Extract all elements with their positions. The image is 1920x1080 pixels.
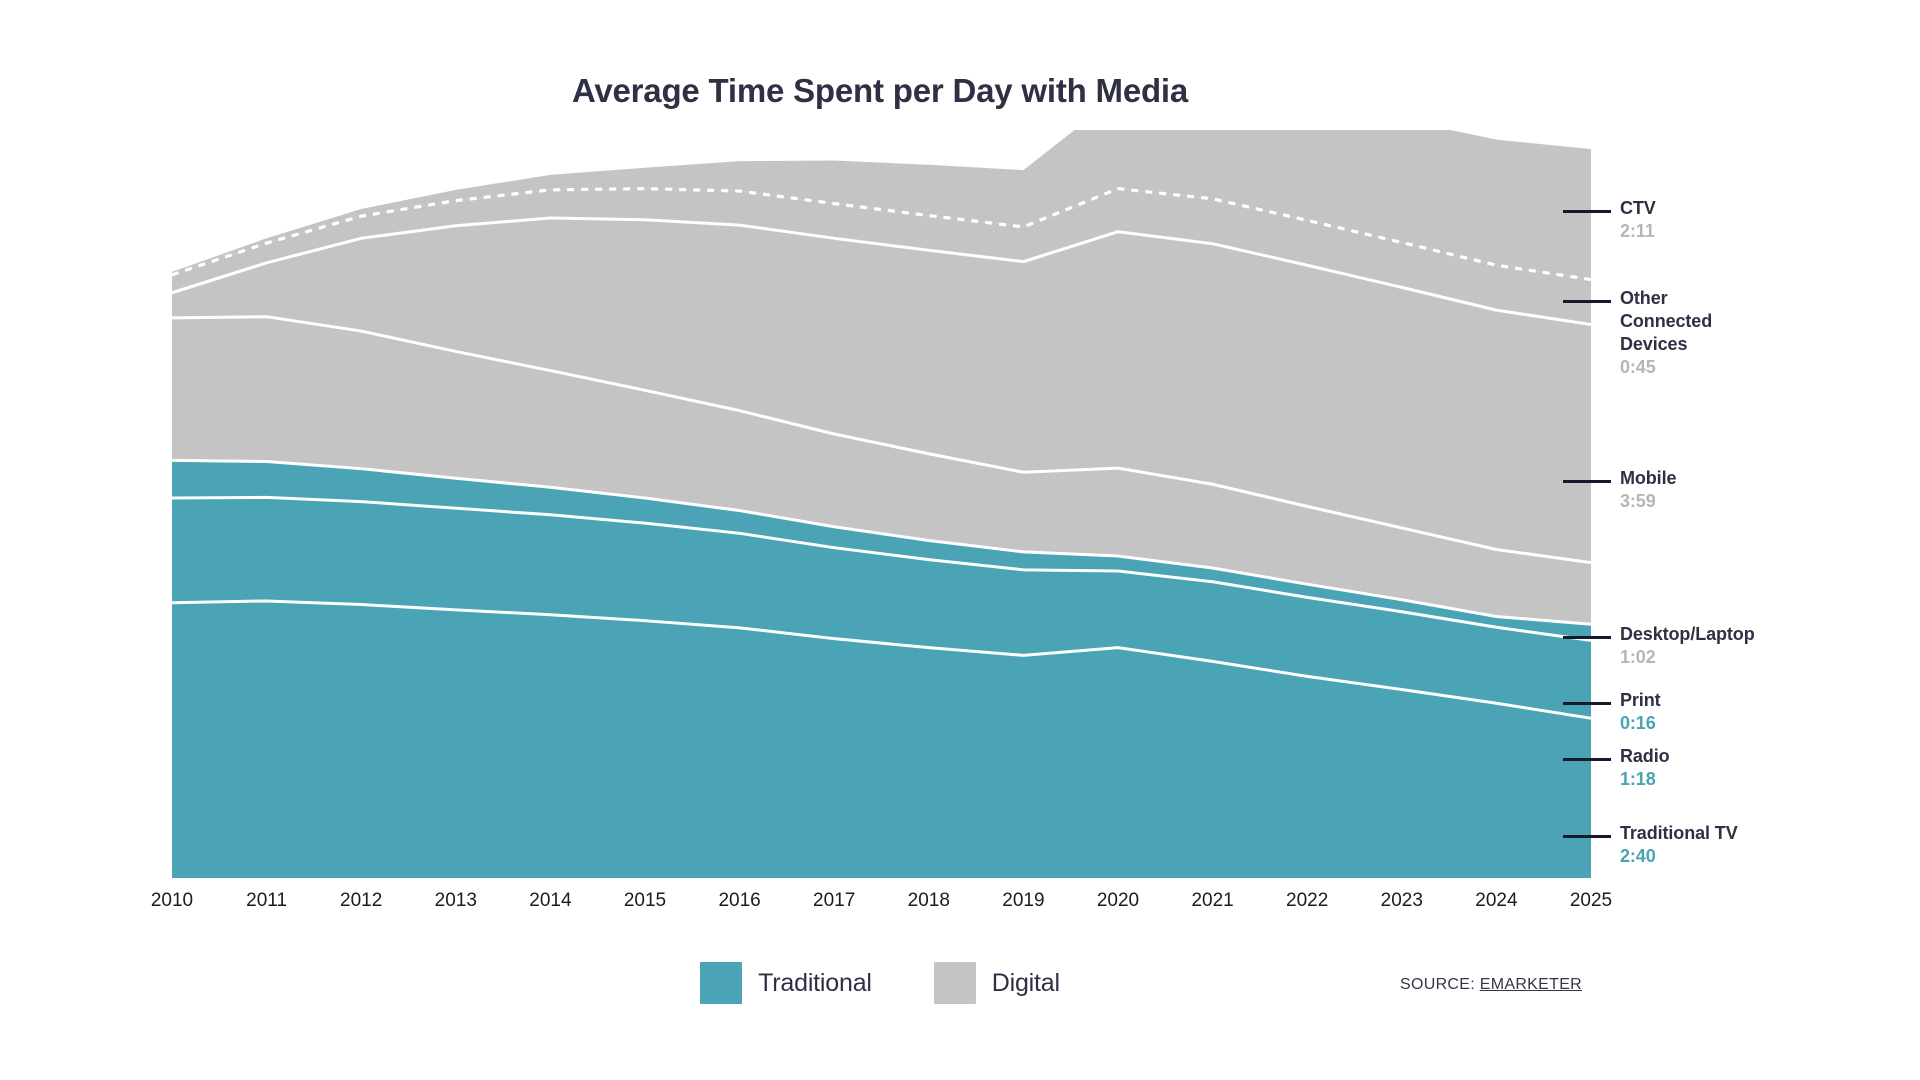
annotation-label-traditional-tv: Traditional TV: [1620, 822, 1738, 845]
leader-line-ctv: [1563, 210, 1611, 213]
x-axis-tick-2023: 2023: [1381, 890, 1423, 912]
annotation-desktop-laptop: Desktop/Laptop1:02: [1620, 623, 1755, 668]
page-title: Average Time Spent per Day with Media: [0, 72, 1760, 110]
stacked-area-plot: [172, 130, 1591, 878]
annotation-print: Print0:16: [1620, 689, 1661, 734]
annotation-value-other-connected-devices: 0:45: [1620, 356, 1750, 378]
color-swatch-icon-traditional: [700, 962, 742, 1004]
leader-line-print: [1563, 702, 1611, 705]
source-prefix: SOURCE:: [1400, 976, 1475, 993]
x-axis-tick-2022: 2022: [1286, 890, 1328, 912]
x-axis-tick-2018: 2018: [908, 890, 950, 912]
x-axis-tick-2016: 2016: [718, 890, 760, 912]
x-axis-tick-2024: 2024: [1475, 890, 1517, 912]
legend-label-traditional: Traditional: [758, 969, 872, 998]
legend-item-digital[interactable]: Digital: [934, 962, 1060, 1004]
leader-line-mobile: [1563, 480, 1611, 483]
x-axis-tick-2012: 2012: [340, 890, 382, 912]
source-link[interactable]: EMARKETER: [1480, 976, 1582, 993]
legend-label-digital: Digital: [992, 969, 1060, 998]
annotation-value-traditional-tv: 2:40: [1620, 845, 1738, 867]
annotation-label-radio: Radio: [1620, 745, 1670, 768]
x-axis-tick-2025: 2025: [1570, 890, 1612, 912]
source-note: SOURCE: EMARKETER: [1400, 976, 1582, 994]
annotation-label-ctv: CTV: [1620, 197, 1656, 220]
legend-item-traditional[interactable]: Traditional: [700, 962, 872, 1004]
annotation-traditional-tv: Traditional TV2:40: [1620, 822, 1738, 867]
annotation-value-mobile: 3:59: [1620, 490, 1676, 512]
annotation-other-connected-devices: Other Connected Devices0:45: [1620, 287, 1750, 378]
annotation-value-print: 0:16: [1620, 712, 1661, 734]
leader-line-desktop-laptop: [1563, 636, 1611, 639]
annotation-value-ctv: 2:11: [1620, 220, 1656, 242]
plot-svg: [172, 130, 1591, 878]
leader-line-traditional-tv: [1563, 835, 1611, 838]
annotation-radio: Radio1:18: [1620, 745, 1670, 790]
leader-line-radio: [1563, 758, 1611, 761]
chart-page: Average Time Spent per Day with Media 20…: [0, 0, 1920, 1080]
x-axis: 2010201120122013201420152016201720182019…: [172, 890, 1591, 916]
x-axis-tick-2013: 2013: [435, 890, 477, 912]
annotation-mobile: Mobile3:59: [1620, 467, 1676, 512]
annotation-label-desktop-laptop: Desktop/Laptop: [1620, 623, 1755, 646]
annotation-ctv: CTV2:11: [1620, 197, 1656, 242]
annotation-value-radio: 1:18: [1620, 768, 1670, 790]
leader-line-other-connected-devices: [1563, 300, 1611, 303]
x-axis-tick-2011: 2011: [246, 890, 287, 912]
x-axis-tick-2019: 2019: [1002, 890, 1044, 912]
x-axis-tick-2017: 2017: [813, 890, 855, 912]
x-axis-tick-2021: 2021: [1191, 890, 1233, 912]
x-axis-tick-2014: 2014: [529, 890, 571, 912]
annotation-value-desktop-laptop: 1:02: [1620, 646, 1755, 668]
x-axis-tick-2010: 2010: [151, 890, 193, 912]
x-axis-tick-2015: 2015: [624, 890, 666, 912]
annotation-label-other-connected-devices: Other Connected Devices: [1620, 287, 1750, 356]
annotation-label-print: Print: [1620, 689, 1661, 712]
annotation-label-mobile: Mobile: [1620, 467, 1676, 490]
color-swatch-icon-digital: [934, 962, 976, 1004]
x-axis-tick-2020: 2020: [1097, 890, 1139, 912]
